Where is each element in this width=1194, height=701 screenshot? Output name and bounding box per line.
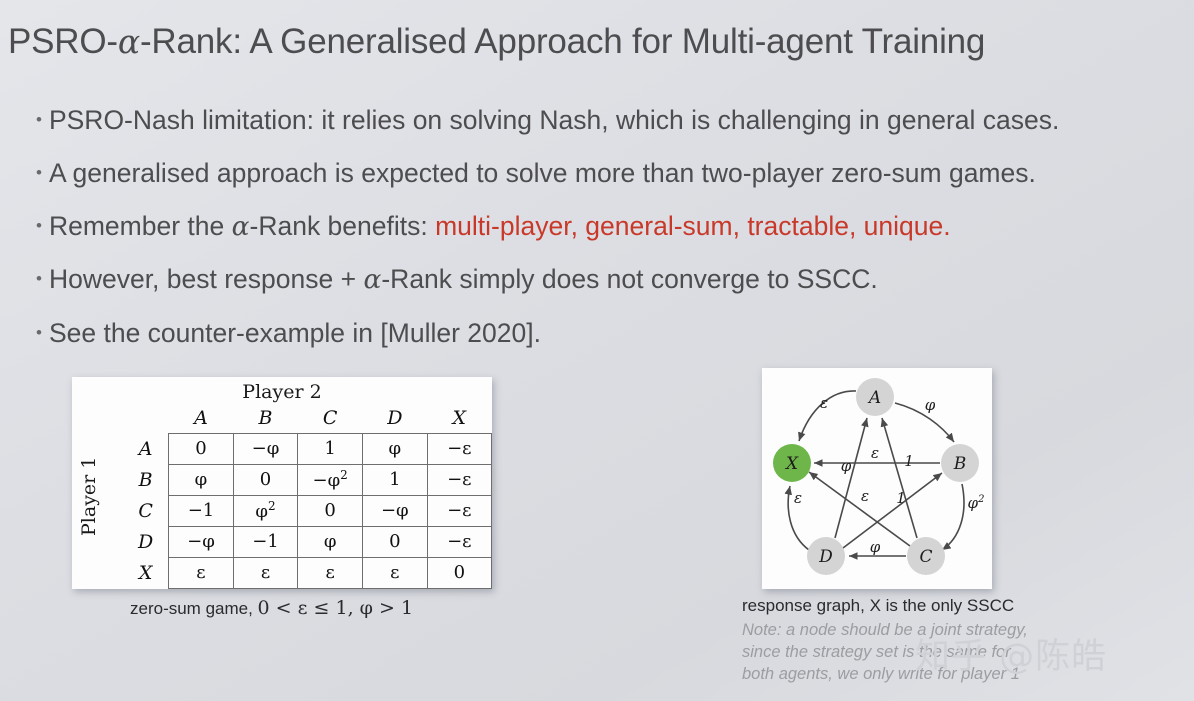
bullet-dot-icon: • <box>36 270 42 287</box>
table-row: Bφ0−φ21−ε <box>128 464 492 495</box>
edge-label-D-B: 1 <box>896 489 906 507</box>
node-label: D <box>818 547 833 567</box>
edge-label-A-X: ε <box>820 394 828 412</box>
payoff-matrix-figure: Player 2 Player 1 ABCDXA0−φ1φ−εBφ0−φ21−ε… <box>72 377 492 589</box>
matrix-row-header-label: Player 1 <box>78 429 100 564</box>
matrix-cell-BC: −φ2 <box>298 464 363 495</box>
matrix-cell-XD: ε <box>363 557 428 588</box>
table-row: D−φ−1φ0−ε <box>128 526 492 557</box>
edge-B-C <box>942 484 964 550</box>
response-graph-svg: ABCDX εφεφ21φεφ1ε <box>762 368 992 589</box>
payoff-matrix-caption: zero-sum game, 0 < ε ≤ 1, φ > 1 <box>130 597 413 619</box>
matrix-cell-CC: 0 <box>298 495 363 526</box>
matrix-cell-CB: φ2 <box>233 495 298 526</box>
bullet-dot-icon: • <box>36 111 42 128</box>
matrix-column-header-C: C <box>298 403 363 433</box>
matrix-column-header-B: B <box>233 403 298 433</box>
table-row: Xεεεε0 <box>128 557 492 588</box>
title-text: PSRO- <box>8 22 118 61</box>
graph-caption-note: Note: a node should be a joint strategy,… <box>742 620 1162 685</box>
node-label: B <box>953 454 967 474</box>
payoff-matrix-table: ABCDXA0−φ1φ−εBφ0−φ21−εC−1φ20−φ−εD−φ−1φ0−… <box>128 403 492 589</box>
bullet-text: A generalised approach is expected to so… <box>49 157 1036 190</box>
bullet-dot-icon: • <box>36 324 42 341</box>
graph-note-line: both agents, we only write for player 1 <box>742 664 1162 686</box>
bullet-segment: A generalised approach is expected to so… <box>49 158 1036 188</box>
graph-node-X[interactable]: X <box>773 444 811 482</box>
edge-D-B <box>843 473 942 548</box>
bullet-list: •PSRO-Nash limitation: it relies on solv… <box>36 104 1186 370</box>
matrix-column-header-X: X <box>427 403 491 433</box>
edge-label-A-B: φ <box>925 396 936 414</box>
graph-note-line: Note: a node should be a joint strategy, <box>742 620 1162 642</box>
payoff-matrix-inner: Player 2 Player 1 ABCDXA0−φ1φ−εBφ0−φ21−ε… <box>72 377 492 589</box>
matrix-cell-AC: 1 <box>298 433 363 464</box>
matrix-cell-XX: 0 <box>427 557 491 588</box>
alpha-symbol: α <box>232 211 250 242</box>
bullet-highlight-text: multi-player, general-sum, tractable, un… <box>435 211 951 241</box>
matrix-cell-DC: φ <box>298 526 363 557</box>
graph-node-B[interactable]: B <box>941 444 979 482</box>
edge-C-A <box>882 418 917 538</box>
matrix-cell-DB: −1 <box>233 526 298 557</box>
matrix-corner-cell <box>128 403 169 433</box>
matrix-column-header-D: D <box>363 403 428 433</box>
matrix-cell-CA: −1 <box>169 495 234 526</box>
matrix-cell-XB: ε <box>233 557 298 588</box>
matrix-cell-CX: −ε <box>427 495 491 526</box>
matrix-row-header-D: D <box>128 526 169 557</box>
matrix-cell-BB: 0 <box>233 464 298 495</box>
node-label: C <box>919 547 932 567</box>
matrix-caption-math: 0 < ε ≤ 1, φ > 1 <box>258 597 414 619</box>
bullet-text: PSRO-Nash limitation: it relies on solvi… <box>49 104 1059 137</box>
bullet-dot-icon: • <box>36 164 42 181</box>
node-label: X <box>784 454 799 474</box>
alpha-symbol: α <box>363 264 381 295</box>
response-graph-caption: response graph, X is the only SSCC Note:… <box>742 596 1162 685</box>
exponent: 2 <box>340 468 348 482</box>
bullet-counter-example: •See the counter-example in [Muller 2020… <box>36 317 1186 350</box>
matrix-cell-XC: ε <box>298 557 363 588</box>
matrix-row-header-A: A <box>128 433 169 464</box>
edge-D-A <box>835 418 867 538</box>
bullet-dot-icon: • <box>36 217 42 234</box>
matrix-cell-XA: ε <box>169 557 234 588</box>
response-graph-figure: ABCDX εφεφ21φεφ1ε <box>762 368 992 589</box>
graph-note-line: since the strategy set is the same for <box>742 642 1162 664</box>
matrix-row-header-C: C <box>128 495 169 526</box>
matrix-cell-AD: φ <box>363 433 428 464</box>
edge-label-D-X: ε <box>794 489 802 507</box>
edge-label-C-X: ε <box>861 487 869 505</box>
graph-node-A[interactable]: A <box>856 378 894 416</box>
matrix-cell-DA: −φ <box>169 526 234 557</box>
matrix-caption-prefix: zero-sum game, <box>130 599 258 618</box>
matrix-cell-CD: −φ <box>363 495 428 526</box>
matrix-cell-AA: 0 <box>169 433 234 464</box>
matrix-header-row: ABCDX <box>128 403 492 433</box>
bullet-alpha-rank-benefits: •Remember the α-Rank benefits: multi-pla… <box>36 210 1186 243</box>
matrix-cell-AB: −φ <box>233 433 298 464</box>
matrix-row-header-B: B <box>128 464 169 495</box>
slide-root: PSRO-α-Rank: A Generalised Approach for … <box>0 0 1194 701</box>
bullet-segment: -Rank simply does not converge to SSCC. <box>381 264 877 294</box>
graph-caption-line1: response graph, X is the only SSCC <box>742 596 1162 616</box>
bullet-segment: Remember the <box>49 211 232 241</box>
matrix-column-header-label: Player 2 <box>72 381 492 403</box>
bullet-text: See the counter-example in [Muller 2020]… <box>49 317 541 350</box>
bullet-segment: However, best response + <box>49 264 364 294</box>
edge-label-B-X: ε <box>871 444 879 462</box>
matrix-cell-BX: −ε <box>427 464 491 495</box>
bullet-text: However, best response + α-Rank simply d… <box>49 263 878 296</box>
bullet-segment: PSRO-Nash limitation: it relies on solvi… <box>49 105 1059 135</box>
matrix-cell-BD: 1 <box>363 464 428 495</box>
matrix-column-header-A: A <box>169 403 234 433</box>
page-title: PSRO-α-Rank: A Generalised Approach for … <box>8 22 985 62</box>
bullet-segment: See the counter-example in [Muller 2020]… <box>49 318 541 348</box>
table-row: C−1φ20−φ−ε <box>128 495 492 526</box>
node-label: A <box>867 388 881 408</box>
graph-node-C[interactable]: C <box>907 537 945 575</box>
table-row: A0−φ1φ−ε <box>128 433 492 464</box>
matrix-cell-DX: −ε <box>427 526 491 557</box>
matrix-cell-BA: φ <box>169 464 234 495</box>
edge-label-B-C: φ2 <box>968 494 985 512</box>
matrix-row-header-X: X <box>128 557 169 588</box>
bullet-no-convergence: •However, best response + α-Rank simply … <box>36 263 1186 296</box>
bullet-generalised-approach: •A generalised approach is expected to s… <box>36 157 1186 190</box>
edge-label-D-A: φ <box>841 457 852 475</box>
bullet-text: Remember the α-Rank benefits: multi-play… <box>49 210 951 243</box>
title-alpha-symbol: α <box>118 22 140 61</box>
title-text: -Rank: A Generalised Approach for Multi-… <box>140 22 985 61</box>
exponent: 2 <box>268 499 276 513</box>
bullet-psro-nash-limitation: •PSRO-Nash limitation: it relies on solv… <box>36 104 1186 137</box>
edge-label-exponent: 2 <box>977 494 984 505</box>
matrix-cell-DD: 0 <box>363 526 428 557</box>
graph-node-D[interactable]: D <box>807 537 845 575</box>
edge-label-C-D: φ <box>870 538 881 556</box>
bullet-segment: -Rank benefits: <box>250 211 436 241</box>
matrix-cell-AX: −ε <box>427 433 491 464</box>
edge-label-C-A: 1 <box>904 452 914 470</box>
